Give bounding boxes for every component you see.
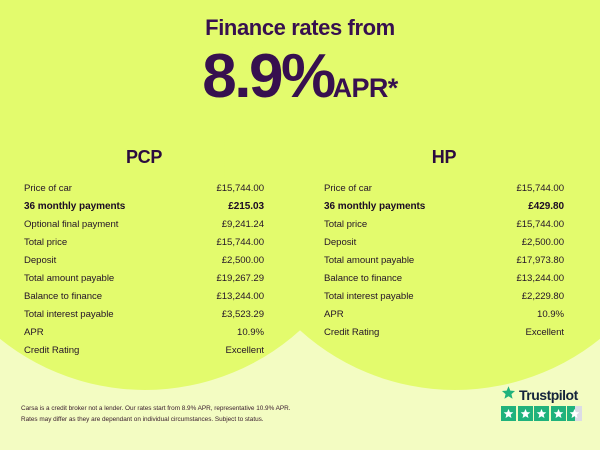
- row-value: £9,241.24: [187, 215, 264, 233]
- trustpilot-logo: Trustpilot: [501, 386, 582, 403]
- disclaimer-line-1: Carsa is a credit broker not a lender. O…: [21, 403, 351, 414]
- row-label: Credit Rating: [24, 341, 187, 359]
- table-row: Deposit £2,500.00: [24, 251, 264, 269]
- row-label: Total price: [324, 215, 487, 233]
- row-label: Balance to finance: [24, 287, 187, 305]
- star-icon-filled: [501, 406, 516, 421]
- row-label: Total price: [24, 233, 187, 251]
- trustpilot-rating[interactable]: Trustpilot: [501, 386, 582, 421]
- star-icon-filled: [518, 406, 533, 421]
- table-row: Total price £15,744.00: [324, 215, 564, 233]
- column-title-pcp: PCP: [24, 148, 264, 166]
- poster-header: Finance rates from 8.9%APR*: [0, 0, 600, 108]
- table-row: Balance to finance £13,244.00: [324, 269, 564, 287]
- disclaimer-line-2: Rates may differ as they are dependant o…: [21, 414, 351, 425]
- table-row: Credit Rating Excellent: [324, 323, 564, 341]
- star-icon-filled: [534, 406, 549, 421]
- row-label: Total interest payable: [324, 287, 487, 305]
- finance-column-pcp: PCP Price of car £15,744.00 36 monthly p…: [0, 148, 300, 359]
- row-value: £13,244.00: [487, 269, 564, 287]
- table-row: Deposit £2,500.00: [324, 233, 564, 251]
- row-value: 10.9%: [187, 323, 264, 341]
- row-label: Deposit: [324, 233, 487, 251]
- table-row: Total interest payable £2,229.80: [324, 287, 564, 305]
- row-label: Optional final payment: [24, 215, 187, 233]
- row-value: Excellent: [187, 341, 264, 359]
- finance-comparison-tables: PCP Price of car £15,744.00 36 monthly p…: [0, 148, 600, 359]
- page-title: Finance rates from: [0, 0, 600, 39]
- row-value: £2,229.80: [487, 287, 564, 305]
- column-title-hp: HP: [324, 148, 564, 166]
- row-value: £15,744.00: [487, 215, 564, 233]
- row-value: 10.9%: [487, 305, 564, 323]
- rate-suffix: APR*: [333, 73, 398, 103]
- table-row: APR 10.9%: [24, 323, 264, 341]
- row-value: £15,744.00: [487, 179, 564, 197]
- star-icon-half: [567, 406, 582, 421]
- rates-table-pcp: Price of car £15,744.00 36 monthly payme…: [24, 179, 264, 359]
- rates-table-hp: Price of car £15,744.00 36 monthly payme…: [324, 179, 564, 341]
- table-row: Price of car £15,744.00: [24, 179, 264, 197]
- row-value: £429.80: [487, 197, 564, 215]
- table-row: APR 10.9%: [324, 305, 564, 323]
- row-value: £15,744.00: [187, 179, 264, 197]
- rate-value: 8.9%: [202, 42, 333, 111]
- trustpilot-star-icon: [501, 385, 516, 405]
- row-label: APR: [24, 323, 187, 341]
- table-row: Total amount payable £17,973.80: [324, 251, 564, 269]
- table-row: Price of car £15,744.00: [324, 179, 564, 197]
- finance-rates-poster: Finance rates from 8.9%APR* PCP Price of…: [0, 0, 600, 450]
- headline-rate: 8.9%APR*: [0, 46, 600, 108]
- table-row: Total amount payable £19,267.29: [24, 269, 264, 287]
- row-value: £215.03: [187, 197, 264, 215]
- trustpilot-name: Trustpilot: [519, 388, 578, 402]
- row-value: £3,523.29: [187, 305, 264, 323]
- table-row: 36 monthly payments £215.03: [24, 197, 264, 215]
- row-label: 36 monthly payments: [24, 197, 187, 215]
- row-label: APR: [324, 305, 487, 323]
- row-value: £13,244.00: [187, 287, 264, 305]
- table-row: Total price £15,744.00: [24, 233, 264, 251]
- star-icon-filled: [551, 406, 566, 421]
- row-label: Deposit: [24, 251, 187, 269]
- row-value: Excellent: [487, 323, 564, 341]
- row-label: Price of car: [24, 179, 187, 197]
- row-label: 36 monthly payments: [324, 197, 487, 215]
- row-label: Balance to finance: [324, 269, 487, 287]
- table-row: Credit Rating Excellent: [24, 341, 264, 359]
- row-value: £17,973.80: [487, 251, 564, 269]
- trustpilot-stars: [501, 406, 582, 421]
- finance-column-hp: HP Price of car £15,744.00 36 monthly pa…: [300, 148, 600, 359]
- row-label: Price of car: [324, 179, 487, 197]
- row-value: £19,267.29: [187, 269, 264, 287]
- row-label: Total amount payable: [324, 251, 487, 269]
- row-value: £15,744.00: [187, 233, 264, 251]
- row-value: £2,500.00: [187, 251, 264, 269]
- disclaimer-text: Carsa is a credit broker not a lender. O…: [21, 403, 351, 425]
- table-row: Optional final payment £9,241.24: [24, 215, 264, 233]
- table-row: 36 monthly payments £429.80: [324, 197, 564, 215]
- row-label: Credit Rating: [324, 323, 487, 341]
- row-label: Total amount payable: [24, 269, 187, 287]
- table-row: Balance to finance £13,244.00: [24, 287, 264, 305]
- row-value: £2,500.00: [487, 233, 564, 251]
- table-row: Total interest payable £3,523.29: [24, 305, 264, 323]
- row-label: Total interest payable: [24, 305, 187, 323]
